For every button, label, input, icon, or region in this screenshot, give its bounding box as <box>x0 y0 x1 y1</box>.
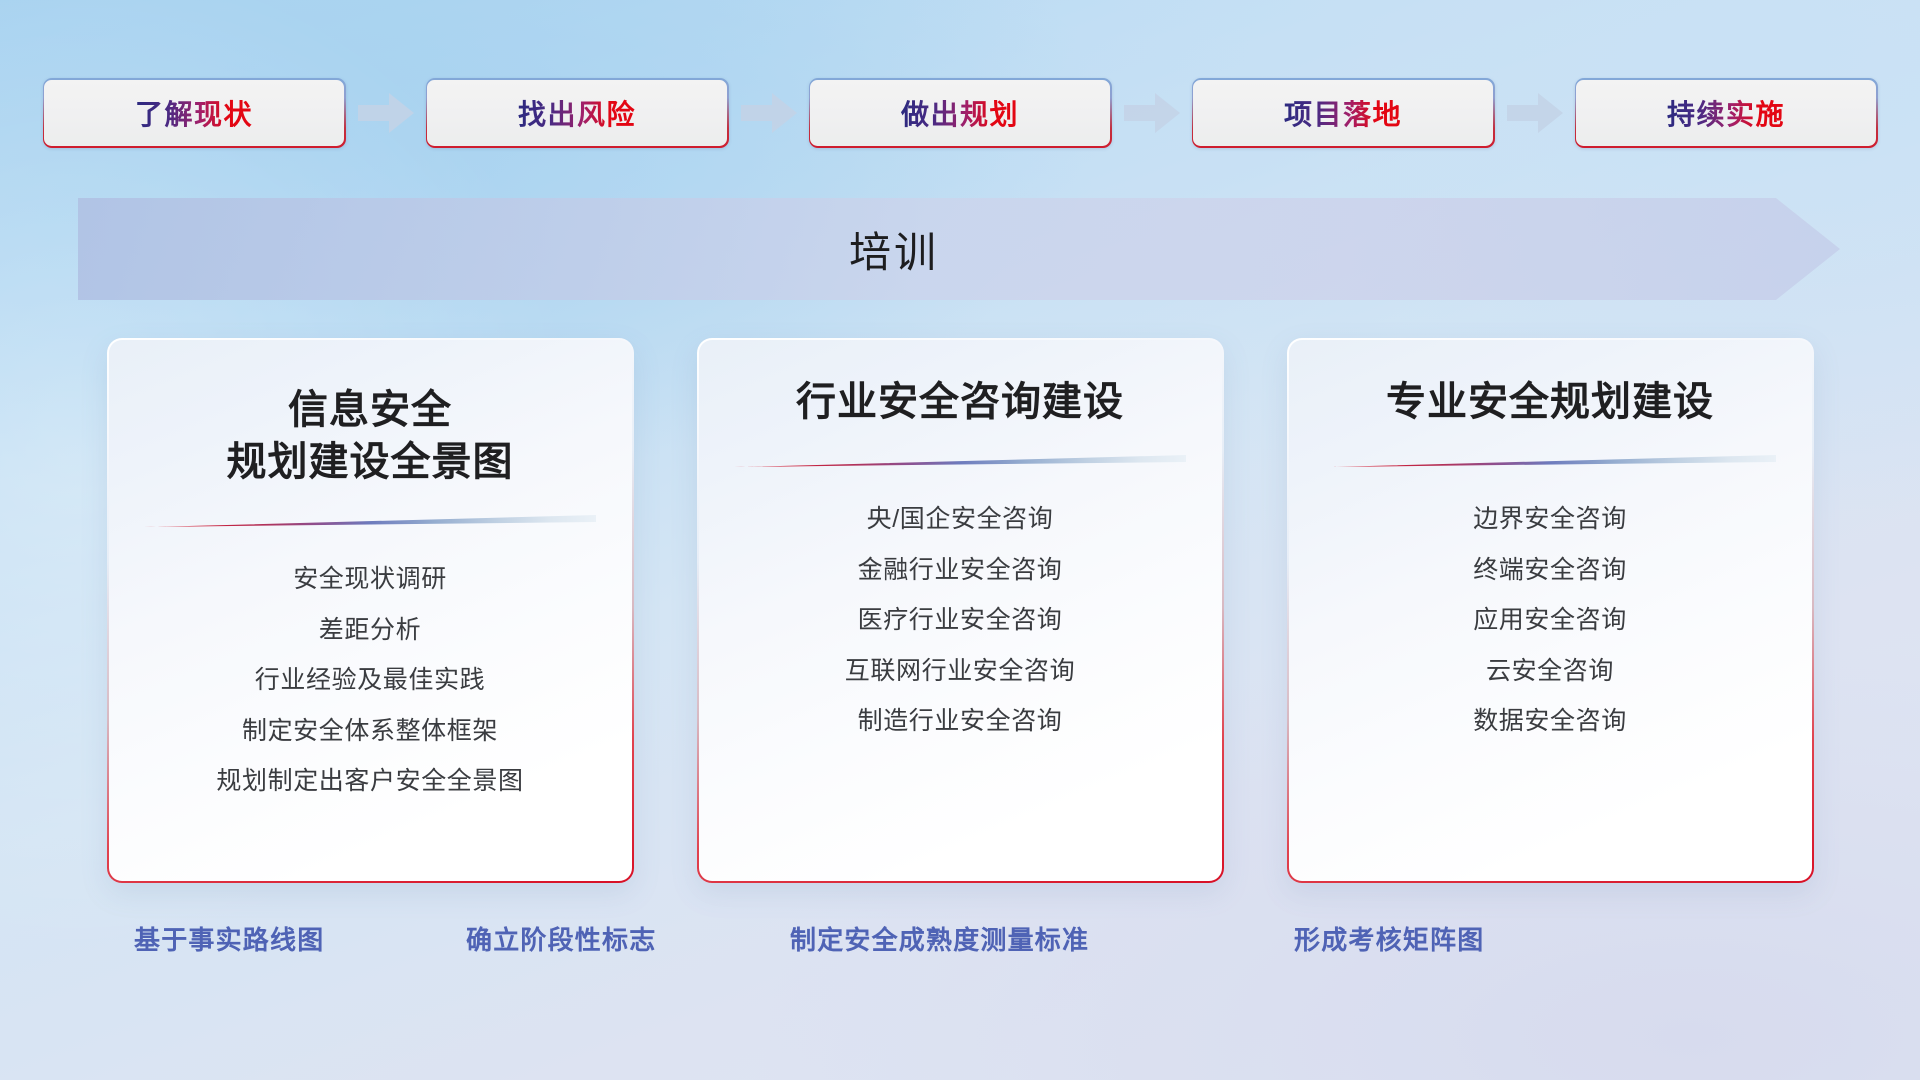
list-item: 差距分析 <box>319 610 421 651</box>
step-arrow-icon-1 <box>346 90 426 136</box>
step-box-3-inner: 做出规划 <box>810 80 1110 147</box>
card-1-divider <box>144 514 596 527</box>
step-arrow-icon-4 <box>1495 90 1575 136</box>
process-step-row: 了解现状 找出风险 做出规划 项目落地 <box>0 78 1920 148</box>
card-2-divider <box>734 454 1186 467</box>
step-box-1[interactable]: 了解现状 <box>43 78 346 148</box>
step-label-1: 了解现状 <box>135 93 253 133</box>
list-item: 央/国企安全咨询 <box>867 499 1054 540</box>
footer-label-4: 形成考核矩阵图 <box>1294 920 1484 957</box>
step-label-4: 项目落地 <box>1284 93 1402 133</box>
list-item: 终端安全咨询 <box>1473 550 1627 591</box>
step-label-5: 持续实施 <box>1667 93 1785 133</box>
step-arrow-icon-2 <box>729 90 809 136</box>
list-item: 边界安全咨询 <box>1473 499 1627 540</box>
step-arrow-icon-3 <box>1112 90 1192 136</box>
card-3-inner: 专业安全规划建设 边界安全咨询 终端安全咨询 应用安全咨询 云安全咨询 数据安全… <box>1289 340 1812 881</box>
card-3-list: 边界安全咨询 终端安全咨询 应用安全咨询 云安全咨询 数据安全咨询 <box>1319 499 1782 742</box>
list-item: 制造行业安全咨询 <box>858 701 1063 742</box>
card-1-inner: 信息安全 规划建设全景图 安全现状调研 差距分析 行业经验及最佳实践 制定安全体… <box>109 340 632 881</box>
step-box-2-inner: 找出风险 <box>427 80 727 147</box>
list-item: 安全现状调研 <box>293 559 447 600</box>
card-professional-security-planning[interactable]: 专业安全规划建设 边界安全咨询 终端安全咨询 应用安全咨询 云安全咨询 数据安全… <box>1287 338 1814 883</box>
list-item: 行业经验及最佳实践 <box>255 660 485 701</box>
list-item: 规划制定出客户安全全景图 <box>216 761 523 802</box>
card-2-inner: 行业安全咨询建设 央/国企安全咨询 金融行业安全咨询 医疗行业安全咨询 互联网行… <box>699 340 1222 881</box>
footer-label-1: 基于事实路线图 <box>134 920 324 957</box>
list-item: 金融行业安全咨询 <box>858 550 1063 591</box>
card-industry-security-consulting[interactable]: 行业安全咨询建设 央/国企安全咨询 金融行业安全咨询 医疗行业安全咨询 互联网行… <box>697 338 1224 883</box>
list-item: 数据安全咨询 <box>1473 701 1627 742</box>
card-2-title: 行业安全咨询建设 <box>796 376 1124 428</box>
list-item: 互联网行业安全咨询 <box>845 651 1075 692</box>
list-item: 云安全咨询 <box>1486 651 1614 692</box>
card-2-list: 央/国企安全咨询 金融行业安全咨询 医疗行业安全咨询 互联网行业安全咨询 制造行… <box>729 499 1192 742</box>
list-item: 应用安全咨询 <box>1473 600 1627 641</box>
step-box-3[interactable]: 做出规划 <box>809 78 1112 148</box>
card-row: 信息安全 规划建设全景图 安全现状调研 差距分析 行业经验及最佳实践 制定安全体… <box>0 338 1920 888</box>
list-item: 制定安全体系整体框架 <box>242 711 498 752</box>
step-box-4[interactable]: 项目落地 <box>1192 78 1495 148</box>
card-information-security-blueprint[interactable]: 信息安全 规划建设全景图 安全现状调研 差距分析 行业经验及最佳实践 制定安全体… <box>107 338 634 883</box>
step-box-1-inner: 了解现状 <box>44 80 344 147</box>
step-box-5-inner: 持续实施 <box>1576 80 1876 147</box>
step-label-3: 做出规划 <box>901 93 1019 133</box>
card-1-title: 信息安全 规划建设全景图 <box>227 376 514 488</box>
step-box-4-inner: 项目落地 <box>1193 80 1493 147</box>
step-box-5[interactable]: 持续实施 <box>1575 78 1878 148</box>
card-3-title: 专业安全规划建设 <box>1386 376 1714 428</box>
banner-title: 培训 <box>78 198 1840 300</box>
footer-label-row: 基于事实路线图 确立阶段性标志 制定安全成熟度测量标准 形成考核矩阵图 <box>0 920 1920 972</box>
training-banner: 培训 <box>78 198 1840 300</box>
card-1-list: 安全现状调研 差距分析 行业经验及最佳实践 制定安全体系整体框架 规划制定出客户… <box>139 559 602 802</box>
footer-label-3: 制定安全成熟度测量标准 <box>790 920 1089 957</box>
list-item: 医疗行业安全咨询 <box>858 600 1063 641</box>
card-3-divider <box>1324 454 1776 467</box>
step-label-2: 找出风险 <box>518 93 636 133</box>
step-box-2[interactable]: 找出风险 <box>426 78 729 148</box>
footer-label-2: 确立阶段性标志 <box>466 920 656 957</box>
